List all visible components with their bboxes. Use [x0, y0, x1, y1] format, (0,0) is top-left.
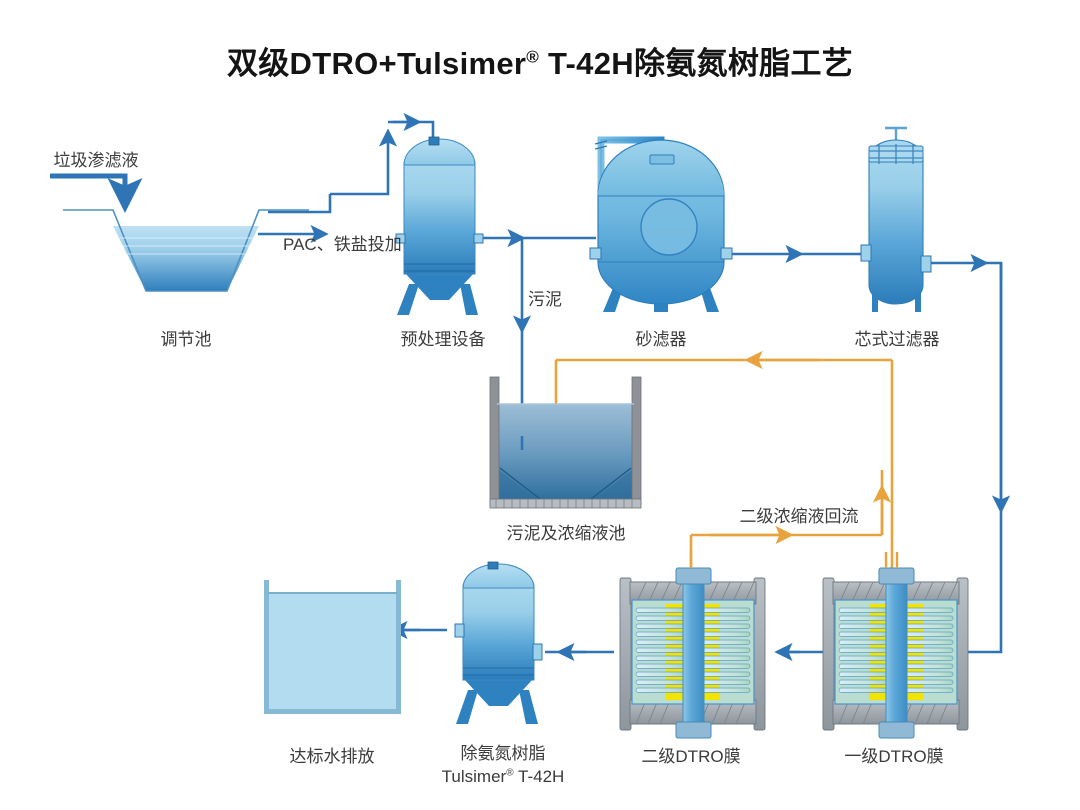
stage1-membrane-discs-right	[905, 608, 953, 692]
registered-mark-icon: ®	[506, 768, 513, 779]
stage2-bottom-nut	[676, 722, 711, 738]
label-equalization-tank: 调节池	[126, 325, 246, 350]
label-discharge-tank: 达标水排放	[262, 742, 402, 767]
label-dtro-stage-1: 一级DTRO膜	[824, 742, 964, 767]
cartridge-corner	[981, 263, 1001, 280]
sludge-pool-floor	[490, 499, 641, 508]
stage2-membrane-discs-right	[702, 608, 750, 692]
pretreatment-outlet-nozzle	[474, 234, 483, 243]
resin-vessel-body	[463, 585, 534, 680]
discharge-tank-wall-right	[396, 580, 401, 714]
label-sludge-concentrate-pool: 污泥及浓缩液池	[476, 519, 656, 544]
pretreatment-top-nozzle	[429, 137, 439, 145]
cartridge-filter-body	[869, 140, 923, 304]
label-ammonia-resin-line1: 除氨氮树脂	[423, 742, 583, 765]
sand-filter-inlet-nozzle	[590, 248, 601, 259]
leachate-inlet-arrow	[50, 176, 125, 206]
label-cartridge-filter: 芯式过滤器	[827, 325, 967, 350]
cartridge-to-stage1-down	[968, 263, 1001, 652]
pretreatment-dome	[404, 139, 475, 165]
sand-filter-manhole	[641, 199, 697, 255]
sand-filter	[590, 140, 732, 312]
label-ammonia-resin-line2: Tulsimer® T-42H	[423, 765, 583, 788]
pretreatment-unit	[396, 137, 483, 315]
stage2-frame-left	[620, 578, 631, 730]
label-leachate-inlet: 垃圾渗滤液	[36, 146, 156, 171]
dtro-stage-1	[823, 568, 968, 738]
label-stage2-concentrate-reflux: 二级浓缩液回流	[714, 502, 884, 527]
diagram-canvas	[0, 0, 1080, 810]
resin-vessel-outlet-nozzle	[455, 624, 464, 637]
label-ammonia-resin-vessel: 除氨氮树脂 Tulsimer® T-42H	[423, 742, 583, 789]
dtro-stage-2	[620, 568, 765, 738]
sand-filter-outlet-nozzle	[721, 248, 732, 259]
discharge-tank-water	[268, 593, 397, 712]
sand-filter-top-flange	[650, 155, 674, 164]
discharge-tank-wall-left	[264, 580, 269, 714]
label-sand-filter: 砂滤器	[601, 325, 721, 350]
equalization-tank-water	[113, 226, 259, 291]
label-pac-iron-dosing: PAC、铁盐投加	[283, 230, 423, 255]
pretreatment-body	[404, 162, 475, 274]
sludge-pool-wall-right	[632, 377, 641, 505]
stage1-frame-left	[823, 578, 834, 730]
process-flow-diagram: 双级DTRO+Tulsimer® T-42H除氨氮树脂工艺	[0, 0, 1080, 810]
stage1-central-column	[886, 578, 907, 730]
resin-vessel-top-nozzle	[488, 562, 498, 569]
label-sludge-line: 污泥	[528, 285, 588, 310]
resin-vessel-dome	[463, 564, 534, 588]
cartridge-filter-outlet-nozzle	[921, 256, 931, 272]
discharge-tank	[264, 580, 401, 714]
label-pretreatment-unit: 预处理设备	[373, 325, 513, 350]
resin-grade: T-42H	[514, 767, 565, 786]
discharge-tank-floor	[264, 709, 401, 714]
ammonia-resin-vessel	[455, 562, 542, 724]
equalization-tank	[63, 210, 309, 291]
label-dtro-stage-2: 二级DTRO膜	[621, 742, 761, 767]
stage1-membrane-discs-left	[839, 608, 887, 692]
stage2-central-column	[683, 578, 704, 730]
sand-filter-dome-shade	[598, 141, 724, 196]
resin-vessel-inlet-nozzle	[533, 644, 542, 660]
stage2-membrane-discs-left	[636, 608, 684, 692]
stage2-top-nut	[676, 568, 711, 584]
stage1-bottom-nut	[879, 722, 914, 738]
pretreatment-riser-2	[330, 132, 388, 194]
cartridge-filter-inlet-nozzle	[861, 245, 871, 261]
stage1-top-nut	[879, 568, 914, 584]
sludge-concentrate-pool	[490, 377, 641, 508]
sludge-pool-wall-left	[490, 377, 499, 505]
cartridge-filter	[861, 128, 931, 312]
resin-brand-name: Tulsimer	[442, 767, 507, 786]
